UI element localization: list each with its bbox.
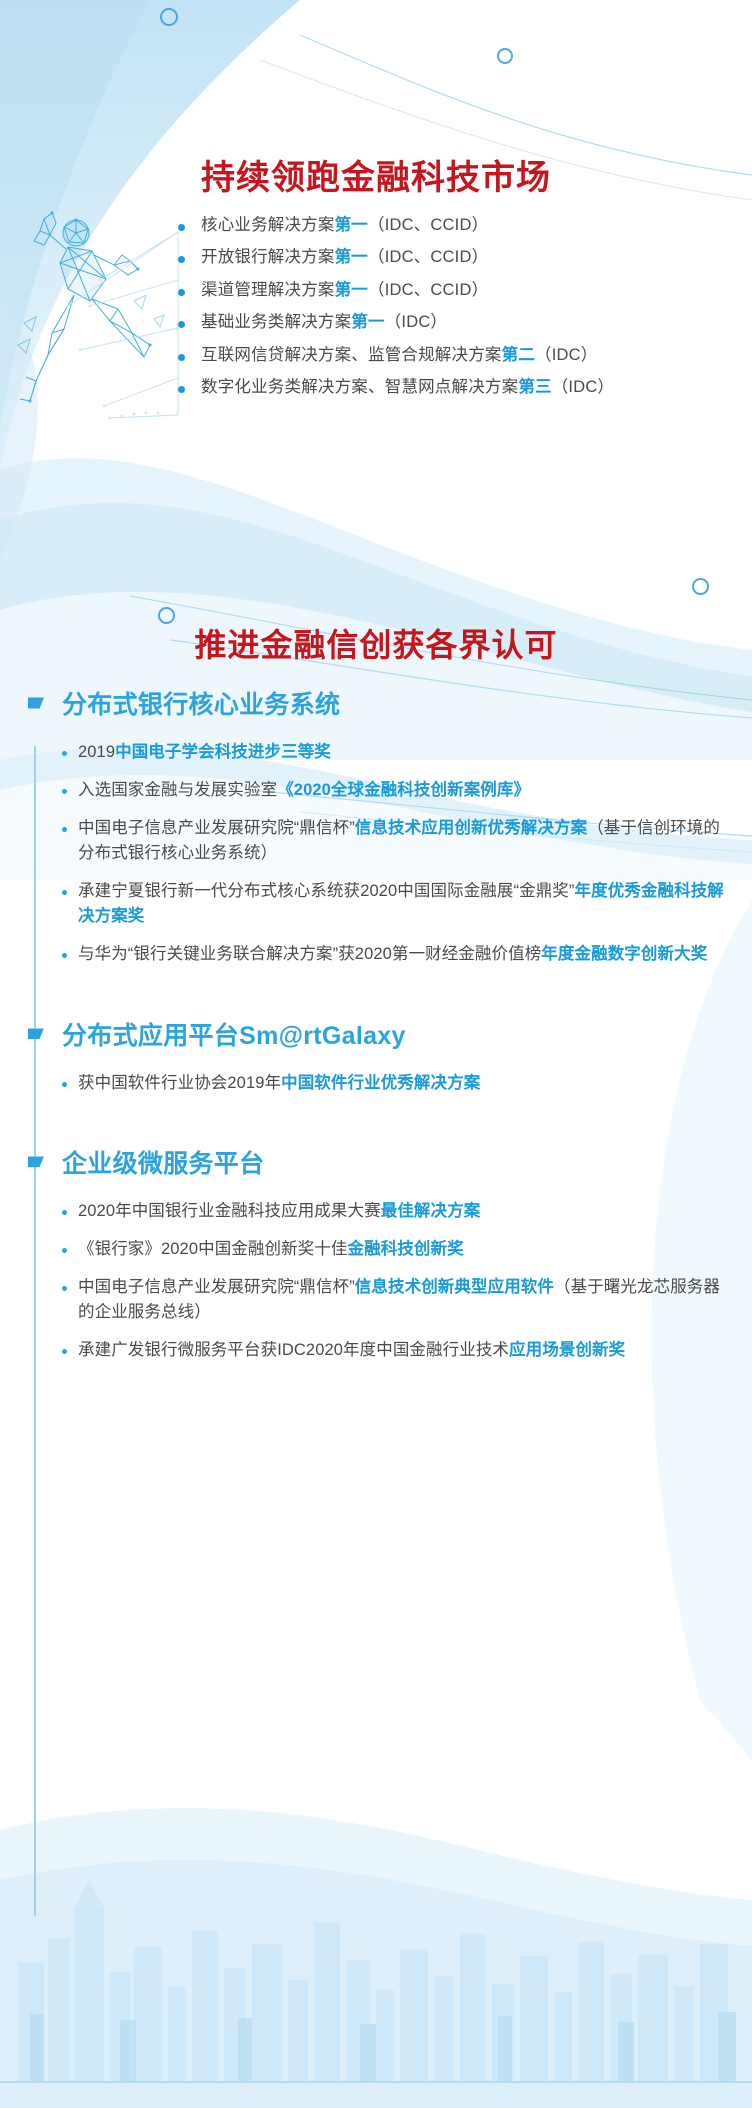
market-ranking-text: 互联网信贷解决方案、监管合规解决方案第二（IDC）: [201, 344, 597, 367]
rank-source: （IDC）: [535, 346, 597, 364]
award-item: 2019中国电子学会科技进步三等奖: [0, 740, 752, 765]
market-ranking-text: 渠道管理解决方案第一（IDC、CCID）: [201, 279, 488, 302]
award-item-text: 获中国软件行业协会2019年中国软件行业优秀解决方案: [78, 1071, 480, 1096]
rank-badge: 第二: [502, 346, 535, 364]
rank-source: （IDC、CCID）: [368, 248, 488, 266]
bullet-dot-icon: [62, 751, 67, 756]
award-group: 分布式银行核心业务系统2019中国电子学会科技进步三等奖入选国家金融与发展实验室…: [0, 680, 752, 1007]
connector-lines: [60, 210, 190, 425]
section-market-leadership: 持续领跑金融科技市场: [0, 0, 752, 640]
award-detail: 承建广发银行微服务平台获IDC2020年度中国金融行业技术: [78, 1341, 509, 1359]
solution-name: 数字化业务类解决方案、智慧网点解决方案: [201, 378, 518, 396]
award-highlight: 《2020全球金融科技创新案例库》: [277, 781, 530, 799]
rank-badge: 第三: [518, 378, 551, 396]
spacer: [0, 726, 752, 740]
award-detail: 中国电子信息产业发展研究院“鼎信杯”: [78, 819, 355, 837]
award-group-header: 企业级微服务平台: [0, 1139, 752, 1185]
award-highlight: 年度金融数字创新大奖: [541, 945, 707, 963]
rank-source: （IDC）: [552, 378, 614, 396]
award-group-header: 分布式银行核心业务系统: [0, 680, 752, 726]
award-item: 承建宁夏银行新一代分布式核心系统获2020中国国际金融展“金鼎奖”年度优秀金融科…: [0, 879, 752, 929]
award-item: 获中国软件行业协会2019年中国软件行业优秀解决方案: [0, 1071, 752, 1096]
market-ranking-item: 数字化业务类解决方案、智慧网点解决方案第三（IDC）: [178, 376, 718, 399]
award-detail: 承建宁夏银行新一代分布式核心系统获2020中国国际金融展“金鼎奖”: [78, 882, 575, 900]
award-highlight: 中国软件行业优秀解决方案: [281, 1074, 480, 1092]
award-item-text: 与华为“银行关键业务联合解决方案”获2020第一财经金融价值榜年度金融数字创新大…: [78, 942, 707, 967]
award-item-text: 中国电子信息产业发展研究院“鼎信杯”信息技术创新典型应用软件（基于曙光龙芯服务器…: [78, 1275, 730, 1325]
rank-badge: 第一: [351, 313, 384, 331]
spacer: [0, 1057, 752, 1071]
award-item-text: 《银行家》2020中国金融创新奖十佳金融科技创新奖: [78, 1237, 464, 1262]
spacer: [0, 1185, 752, 1199]
market-ranking-text: 核心业务解决方案第一（IDC、CCID）: [201, 214, 488, 237]
market-ranking-text: 数字化业务类解决方案、智慧网点解决方案第三（IDC）: [201, 376, 614, 399]
award-detail: 2020年中国银行业金融科技应用成果大赛: [78, 1202, 381, 1220]
bullet-dot-icon: [178, 386, 185, 393]
award-highlight: 金融科技创新奖: [348, 1240, 464, 1258]
bullet-dot-icon: [62, 1286, 67, 1291]
bullet-dot-icon: [62, 953, 67, 958]
award-item: 中国电子信息产业发展研究院“鼎信杯”信息技术应用创新优秀解决方案（基于信创环境的…: [0, 816, 752, 866]
bullet-dot-icon: [178, 289, 185, 296]
award-item: 《银行家》2020中国金融创新奖十佳金融科技创新奖: [0, 1237, 752, 1262]
solution-name: 渠道管理解决方案: [201, 281, 335, 299]
award-item: 与华为“银行关键业务联合解决方案”获2020第一财经金融价值榜年度金融数字创新大…: [0, 942, 752, 967]
solution-name: 开放银行解决方案: [201, 248, 335, 266]
flag-marker-icon: [28, 1028, 44, 1039]
market-ranking-item: 开放银行解决方案第一（IDC、CCID）: [178, 246, 718, 269]
solution-name: 核心业务解决方案: [201, 216, 335, 234]
rank-badge: 第一: [335, 216, 368, 234]
award-highlight: 信息技术应用创新优秀解决方案: [355, 819, 587, 837]
award-item: 2020年中国银行业金融科技应用成果大赛最佳解决方案: [0, 1199, 752, 1224]
award-group-header: 分布式应用平台Sm@rtGalaxy: [0, 1011, 752, 1057]
award-group-title: 分布式银行核心业务系统: [62, 685, 340, 721]
section2-title: 推进金融信创获各界认可: [0, 620, 752, 666]
rank-source: （IDC、CCID）: [368, 281, 488, 299]
market-ranking-list: 核心业务解决方案第一（IDC、CCID）开放银行解决方案第一（IDC、CCID）…: [178, 214, 718, 409]
rank-badge: 第一: [335, 281, 368, 299]
solution-name: 基础业务类解决方案: [201, 313, 351, 331]
award-item-text: 2020年中国银行业金融科技应用成果大赛最佳解决方案: [78, 1199, 480, 1224]
spacer: [0, 1376, 752, 1402]
award-item-text: 2019中国电子学会科技进步三等奖: [78, 740, 331, 765]
market-ranking-text: 开放银行解决方案第一（IDC、CCID）: [201, 246, 488, 269]
award-item-text: 中国电子信息产业发展研究院“鼎信杯”信息技术应用创新优秀解决方案（基于信创环境的…: [78, 816, 730, 866]
award-highlight: 最佳解决方案: [381, 1202, 481, 1220]
award-highlight: 应用场景创新奖: [509, 1341, 625, 1359]
rank-source: （IDC）: [385, 313, 447, 331]
rank-badge: 第一: [335, 248, 368, 266]
award-item-text: 承建广发银行微服务平台获IDC2020年度中国金融行业技术应用场景创新奖: [78, 1338, 625, 1363]
bullet-dot-icon: [62, 789, 67, 794]
section1-title: 持续领跑金融科技市场: [0, 150, 752, 199]
solution-name: 互联网信贷解决方案、监管合规解决方案: [201, 346, 502, 364]
city-skyline: [18, 1880, 728, 2082]
bullet-dot-icon: [62, 827, 67, 832]
award-group: 企业级微服务平台2020年中国银行业金融科技应用成果大赛最佳解决方案《银行家》2…: [0, 1139, 752, 1402]
award-groups: 分布式银行核心业务系统2019中国电子学会科技进步三等奖入选国家金融与发展实验室…: [0, 680, 752, 1406]
award-detail: 2019: [78, 743, 115, 761]
flag-marker-icon: [28, 1156, 44, 1167]
bullet-dot-icon: [178, 256, 185, 263]
award-detail: 获中国软件行业协会2019年: [78, 1074, 281, 1092]
award-group-title: 分布式应用平台Sm@rtGalaxy: [62, 1016, 406, 1052]
award-item: 中国电子信息产业发展研究院“鼎信杯”信息技术创新典型应用软件（基于曙光龙芯服务器…: [0, 1275, 752, 1325]
poster-root: 持续领跑金融科技市场: [0, 0, 752, 2108]
spacer: [0, 981, 752, 1007]
flag-marker-icon: [28, 698, 44, 709]
bullet-dot-icon: [62, 1248, 67, 1253]
bullet-dot-icon: [178, 321, 185, 328]
award-detail: 与华为“银行关键业务联合解决方案”获2020第一财经金融价值榜: [78, 945, 541, 963]
rank-source: （IDC、CCID）: [368, 216, 488, 234]
award-item-text: 承建宁夏银行新一代分布式核心系统获2020中国国际金融展“金鼎奖”年度优秀金融科…: [78, 879, 730, 929]
bullet-dot-icon: [62, 890, 67, 895]
bullet-dot-icon: [62, 1082, 67, 1087]
market-ranking-item: 互联网信贷解决方案、监管合规解决方案第二（IDC）: [178, 344, 718, 367]
award-detail: 入选国家金融与发展实验室: [78, 781, 277, 799]
bullet-dot-icon: [178, 354, 185, 361]
award-highlight: 中国电子学会科技进步三等奖: [115, 743, 331, 761]
bullet-dot-icon: [62, 1210, 67, 1215]
market-ranking-item: 基础业务类解决方案第一（IDC）: [178, 311, 718, 334]
award-highlight: 信息技术创新典型应用软件: [355, 1278, 554, 1296]
bullet-dot-icon: [178, 224, 185, 231]
award-group: 分布式应用平台Sm@rtGalaxy获中国软件行业协会2019年中国软件行业优秀…: [0, 1011, 752, 1135]
spacer: [0, 1109, 752, 1135]
award-item: 入选国家金融与发展实验室《2020全球金融科技创新案例库》: [0, 778, 752, 803]
award-item: 承建广发银行微服务平台获IDC2020年度中国金融行业技术应用场景创新奖: [0, 1338, 752, 1363]
bullet-dot-icon: [62, 1349, 67, 1354]
award-detail: 中国电子信息产业发展研究院“鼎信杯”: [78, 1278, 355, 1296]
award-group-title: 企业级微服务平台: [62, 1144, 264, 1180]
award-detail: 《银行家》2020中国金融创新奖十佳: [78, 1240, 348, 1258]
market-ranking-text: 基础业务类解决方案第一（IDC）: [201, 311, 447, 334]
market-ranking-item: 核心业务解决方案第一（IDC、CCID）: [178, 214, 718, 237]
market-ranking-item: 渠道管理解决方案第一（IDC、CCID）: [178, 279, 718, 302]
award-item-text: 入选国家金融与发展实验室《2020全球金融科技创新案例库》: [78, 778, 530, 803]
